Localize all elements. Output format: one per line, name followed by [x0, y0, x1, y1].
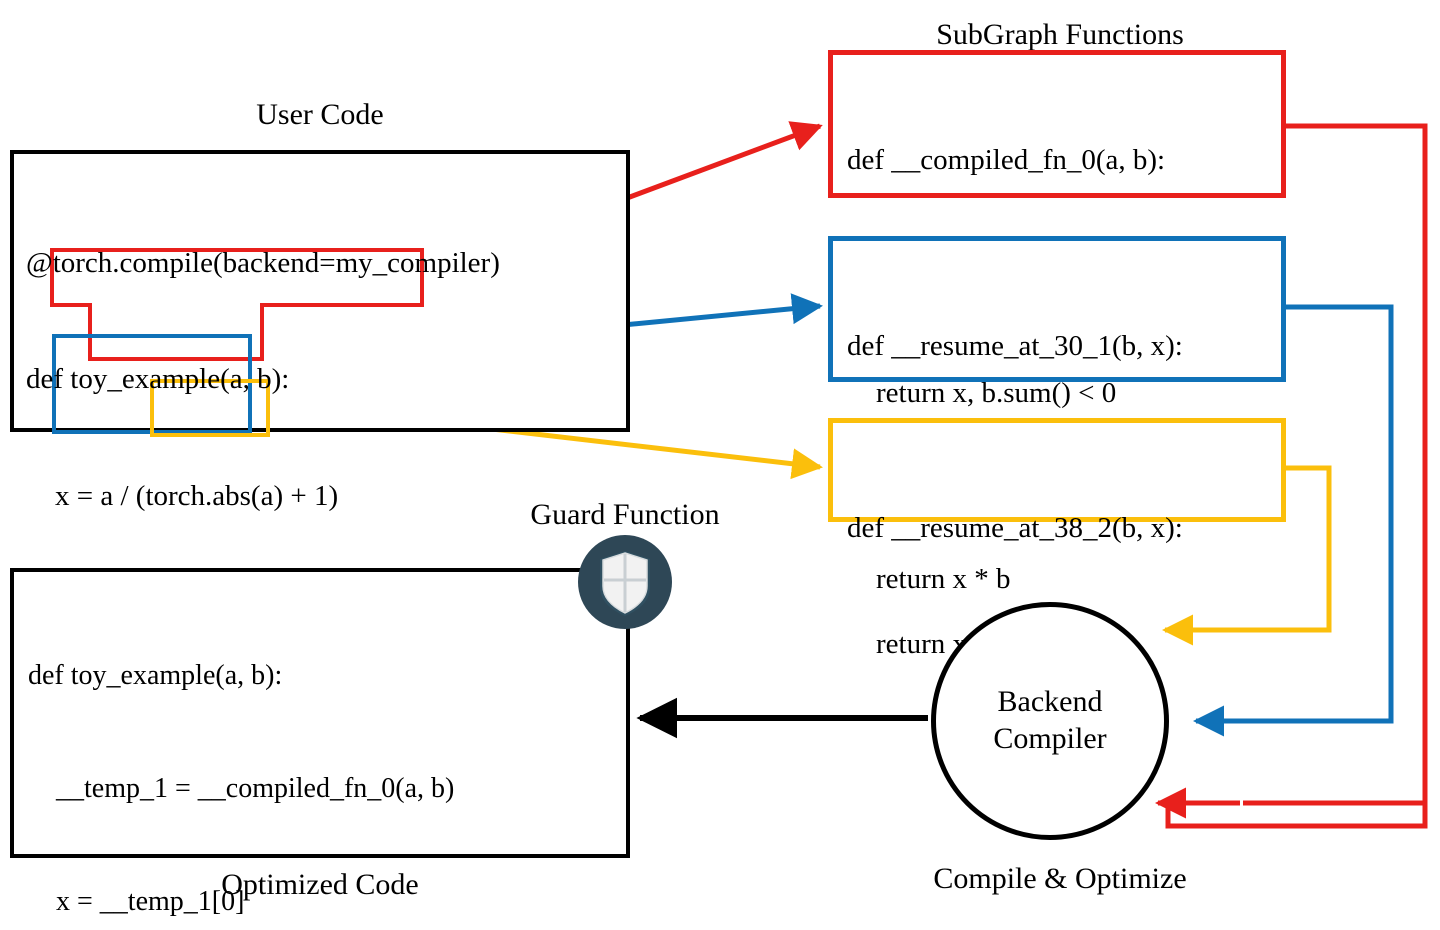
user-code-line: @torch.compile(backend=my_compiler): [26, 244, 500, 283]
backend-compiler-line1: Backend: [998, 684, 1103, 721]
backend-compiler-node: Backend Compiler: [931, 602, 1169, 840]
optimized-code-box: def toy_example(a, b): __temp_1 = __comp…: [10, 568, 630, 858]
optimized-code-text: def toy_example(a, b): __temp_1 = __comp…: [28, 582, 454, 930]
user-code-line: x = a / (torch.abs(a) + 1): [26, 477, 500, 516]
caption-compile-optimize: Compile & Optimize: [860, 862, 1260, 896]
caption-user-code: User Code: [130, 98, 510, 132]
subgraph-box-compiled-fn-0: def __compiled_fn_0(a, b): x = a / (torc…: [828, 50, 1286, 198]
caption-guard-function: Guard Function: [480, 498, 770, 532]
subgraph-code-line: def __resume_at_38_2(b, x):: [847, 509, 1183, 548]
backend-compiler-line2: Compiler: [993, 721, 1106, 758]
subgraph-box-resume-at-30-1: def __resume_at_30_1(b, x): b = b * -1 r…: [828, 236, 1286, 382]
optimized-code-line: x = __temp_1[0]: [28, 883, 454, 921]
subgraph-code-line: def __resume_at_30_1(b, x):: [847, 327, 1183, 366]
shield-icon: [578, 535, 672, 629]
subgraph-code-line: def __compiled_fn_0(a, b):: [847, 141, 1165, 180]
optimized-code-line: def toy_example(a, b):: [28, 657, 454, 695]
caption-subgraph-functions: SubGraph Functions: [860, 18, 1260, 52]
user-code-box: @torch.compile(backend=my_compiler) def …: [10, 150, 630, 432]
diagram-canvas: User Code SubGraph Functions Guard Funct…: [0, 0, 1440, 930]
user-code-line: def toy_example(a, b):: [26, 360, 500, 399]
subgraph-box-resume-at-38-2: def __resume_at_38_2(b, x): return x * b: [828, 418, 1286, 522]
optimized-code-line: __temp_1 = __compiled_fn_0(a, b): [28, 770, 454, 808]
